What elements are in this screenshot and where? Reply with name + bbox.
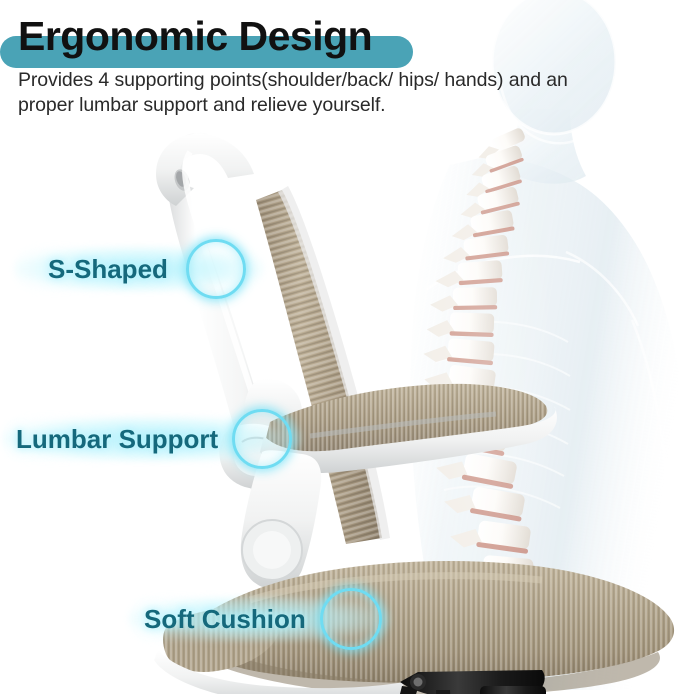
callout-ring-s-shaped <box>186 239 246 299</box>
callout-soft-cushion: Soft Cushion <box>128 590 382 648</box>
callout-lumbar-support: Lumbar Support <box>2 410 292 468</box>
callout-ring-soft-cushion <box>320 588 382 650</box>
page-subtitle: Provides 4 supporting points(shoulder/ba… <box>18 68 608 118</box>
page-title: Ergonomic Design <box>18 8 372 64</box>
header-title-block: Ergonomic Design <box>18 8 438 68</box>
callout-label-soft-cushion: Soft Cushion <box>144 604 306 635</box>
product-infographic: Ergonomic Design Provides 4 supporting p… <box>0 0 679 694</box>
callout-ring-lumbar-support <box>232 409 292 469</box>
callout-s-shaped: S-Shaped <box>14 240 246 298</box>
spine-graphic <box>420 127 560 687</box>
chair-backrest <box>156 133 390 550</box>
callout-label-lumbar-support: Lumbar Support <box>16 424 218 455</box>
chair-base <box>384 670 546 694</box>
callout-label-s-shaped: S-Shaped <box>48 254 168 285</box>
